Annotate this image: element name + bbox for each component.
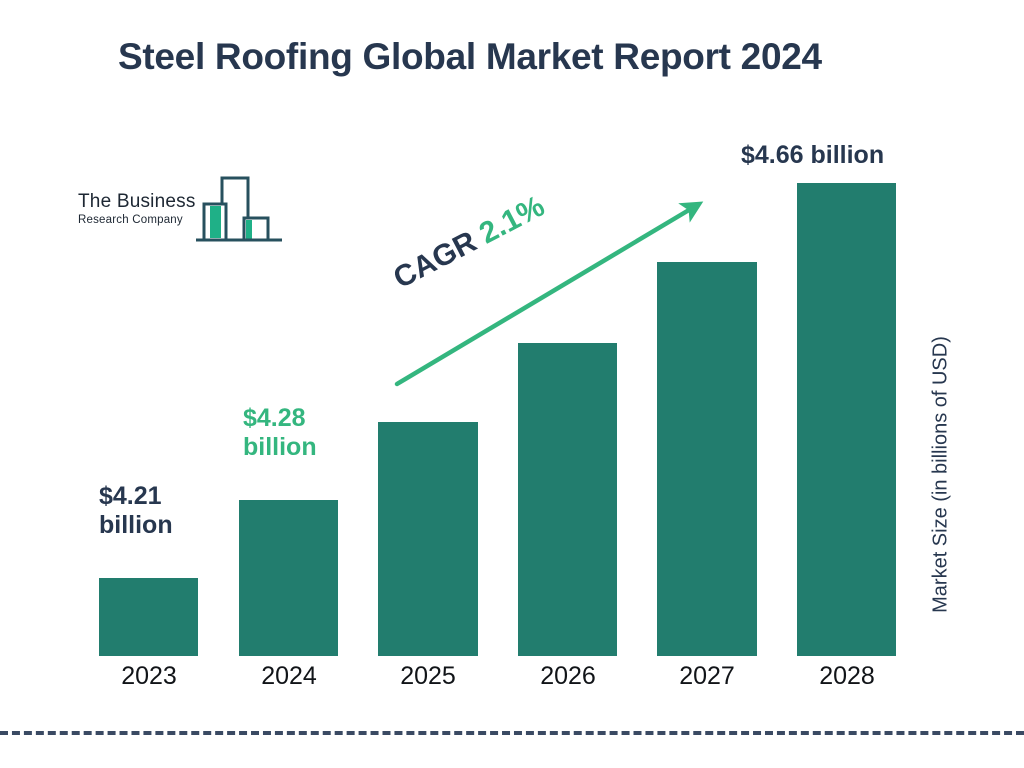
plot-area: 2023 2024 2025 2026 2027 2028 $4.21 bill… — [0, 0, 1024, 700]
y-axis-label-wrap: Market Size (in billions of USD) — [924, 290, 958, 670]
chart-canvas: Steel Roofing Global Market Report 2024 … — [0, 0, 1024, 768]
footer-divider — [0, 731, 1024, 735]
y-axis-label: Market Size (in billions of USD) — [930, 285, 953, 665]
cagr-arrow-icon — [0, 0, 1024, 700]
